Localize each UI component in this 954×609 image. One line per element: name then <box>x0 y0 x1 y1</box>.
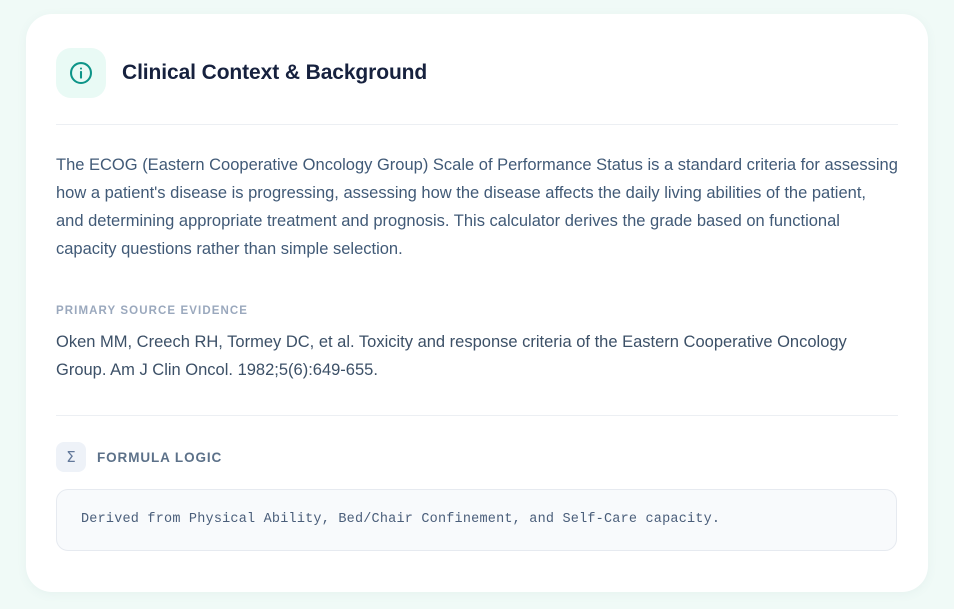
intro-paragraph: The ECOG (Eastern Cooperative Oncology G… <box>56 125 898 263</box>
page-root: Clinical Context & Background The ECOG (… <box>0 0 954 609</box>
evidence-section-label: PRIMARY SOURCE EVIDENCE <box>56 305 898 317</box>
primary-source-evidence-section: PRIMARY SOURCE EVIDENCE Oken MM, Creech … <box>56 263 898 384</box>
card-header: Clinical Context & Background <box>56 48 898 98</box>
sigma-icon: Σ <box>56 442 86 472</box>
formula-code-text: Derived from Physical Ability, Bed/Chair… <box>81 510 720 530</box>
card-content: Clinical Context & Background The ECOG (… <box>26 14 928 551</box>
clinical-context-card: Clinical Context & Background The ECOG (… <box>26 14 928 592</box>
evidence-citation: Oken MM, Creech RH, Tormey DC, et al. To… <box>56 328 856 384</box>
page-title: Clinical Context & Background <box>122 60 427 85</box>
formula-logic-header: Σ FORMULA LOGIC <box>56 416 898 472</box>
formula-code-block: Derived from Physical Ability, Bed/Chair… <box>56 489 897 551</box>
formula-logic-label: FORMULA LOGIC <box>97 450 222 465</box>
info-circle-icon <box>56 48 106 98</box>
